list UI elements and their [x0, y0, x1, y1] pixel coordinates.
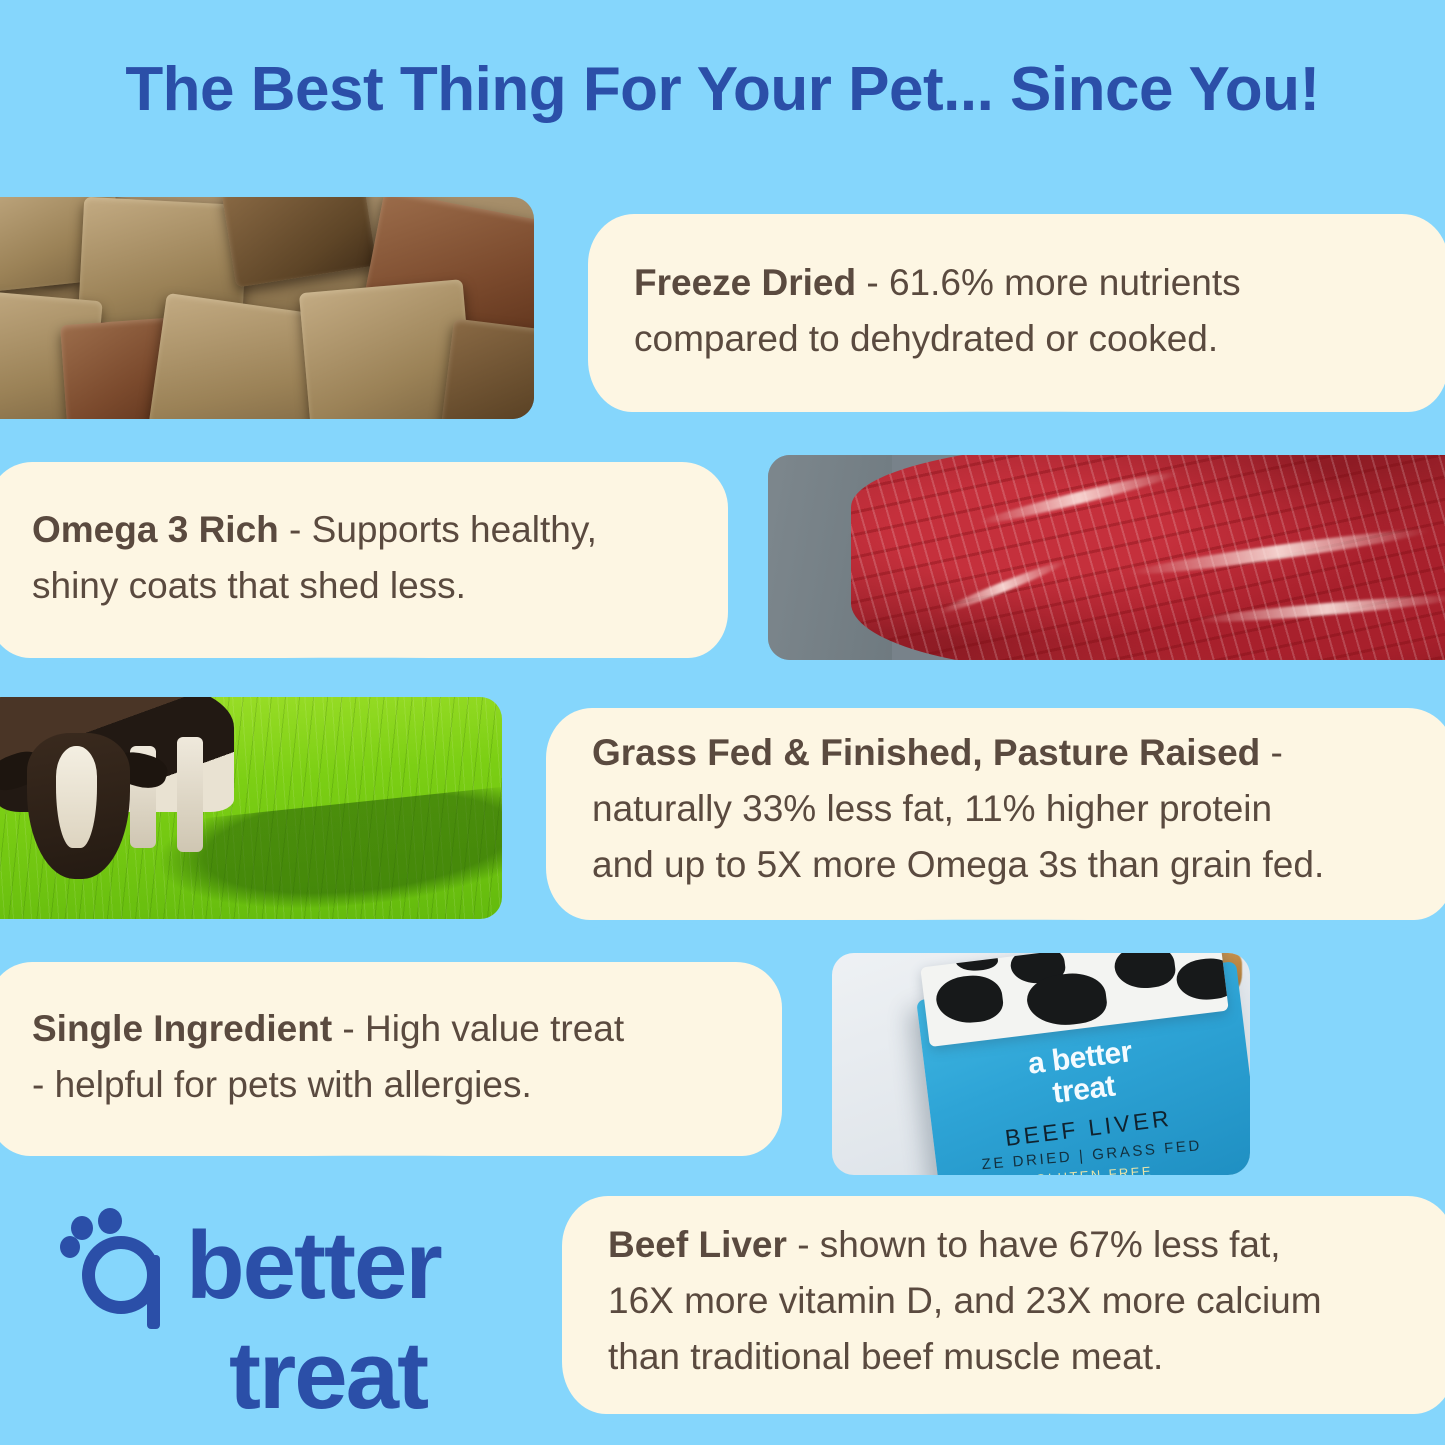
grazing-cow-photo: [0, 697, 502, 919]
feature-line: compared to dehydrated or cooked.: [634, 311, 1402, 367]
paw-print-icon: [60, 1208, 172, 1314]
feature-line: Grass Fed & Finished, Pasture Raised -: [592, 725, 1408, 781]
beef-cut: [851, 455, 1445, 660]
feature-title: Grass Fed & Finished, Pasture Raised: [592, 732, 1260, 773]
raw-beef-photo: [768, 455, 1445, 660]
feature-title: Single Ingredient: [32, 1008, 332, 1049]
feature-line: shiny coats that shed less.: [32, 558, 682, 614]
feature-line: naturally 33% less fat, 11% higher prote…: [592, 781, 1408, 837]
product-package-photo: a better treat BEEF LIVER ZE DRIED | GRA…: [832, 953, 1250, 1175]
logo-line-1: better: [60, 1208, 500, 1314]
feature-line: Omega 3 Rich - Supports healthy,: [32, 502, 682, 558]
logo-word-treat: treat: [60, 1328, 500, 1424]
feature-line: Freeze Dried - 61.6% more nutrients: [634, 255, 1402, 311]
feature-line: and up to 5X more Omega 3s than grain fe…: [592, 837, 1408, 893]
page-title: The Best Thing For Your Pet... Since You…: [0, 54, 1445, 125]
feature-line: Single Ingredient - High value treat: [32, 1001, 736, 1057]
feature-card-freeze-dried: Freeze Dried - 61.6% more nutrients comp…: [588, 214, 1445, 412]
feature-line: than traditional beef muscle meat.: [608, 1329, 1408, 1385]
feature-card-omega-3: Omega 3 Rich - Supports healthy, shiny c…: [0, 462, 728, 658]
feature-card-beef-liver: Beef Liver - shown to have 67% less fat,…: [562, 1196, 1445, 1414]
cow-face-blaze: [56, 746, 97, 848]
feature-title: Freeze Dried: [634, 262, 856, 303]
feature-title: Omega 3 Rich: [32, 509, 279, 550]
infographic-page: The Best Thing For Your Pet... Since You…: [0, 0, 1445, 1445]
feature-card-single-ingredient: Single Ingredient - High value treat - h…: [0, 962, 782, 1156]
cow-leg: [177, 737, 203, 852]
feature-card-grass-fed: Grass Fed & Finished, Pasture Raised - n…: [546, 708, 1445, 920]
brand-logo: better treat: [60, 1208, 500, 1424]
logo-word-better: better: [186, 1218, 441, 1314]
freeze-dried-treats-photo: [0, 197, 534, 419]
feature-line: Beef Liver - shown to have 67% less fat,: [608, 1217, 1408, 1273]
feature-title: Beef Liver: [608, 1224, 787, 1265]
feature-line: - helpful for pets with allergies.: [32, 1057, 736, 1113]
feature-line: 16X more vitamin D, and 23X more calcium: [608, 1273, 1408, 1329]
